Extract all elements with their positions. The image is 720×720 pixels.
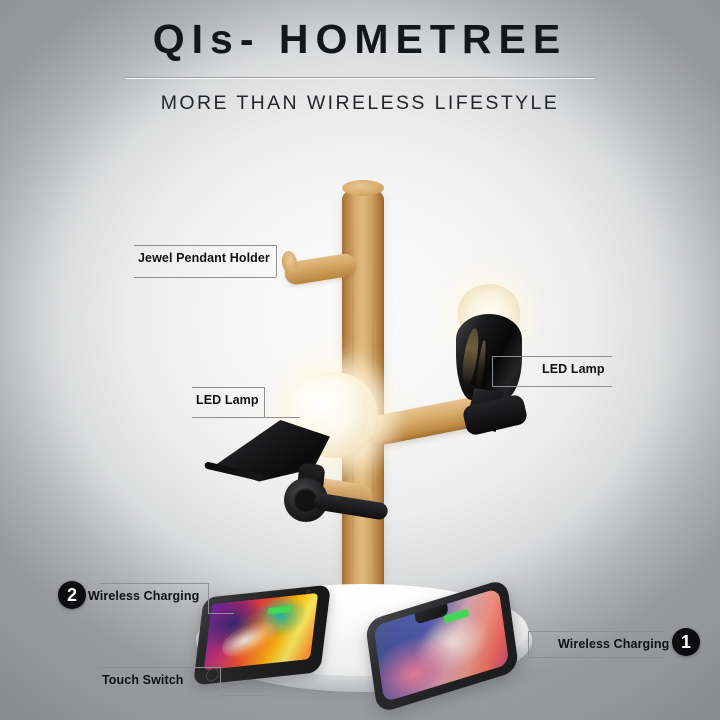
touch-leader-right bbox=[220, 667, 221, 695]
left-bird-lamp bbox=[206, 368, 386, 518]
led-left-leader-right bbox=[264, 387, 265, 417]
left-phone bbox=[193, 585, 331, 686]
led-lamp-left-label: LED Lamp bbox=[196, 393, 259, 407]
badge-1: 1 bbox=[672, 628, 700, 656]
jewel-leader-right bbox=[276, 245, 277, 277]
header: QIs- HOMETREE MORE THAN WIRELESS LIFESTY… bbox=[0, 0, 720, 115]
led-left-leader-bottom bbox=[192, 417, 264, 418]
led-right-leader-bottom bbox=[492, 386, 612, 387]
wireless-charging-1-label: Wireless Charging bbox=[558, 637, 669, 651]
left-phone-screen bbox=[204, 593, 319, 670]
wireless-charging-2-label: Wireless Charging bbox=[88, 589, 199, 603]
left-lamp-arm bbox=[313, 492, 389, 520]
infographic-canvas: QIs- HOMETREE MORE THAN WIRELESS LIFESTY… bbox=[0, 0, 720, 720]
title-divider bbox=[126, 77, 594, 78]
wc1-leader-top bbox=[528, 631, 666, 632]
touch-switch-label: Touch Switch bbox=[102, 673, 184, 687]
wc1-leader-bottom bbox=[528, 657, 666, 658]
led-right-leader-left bbox=[492, 356, 493, 386]
led-left-leader-point bbox=[264, 417, 300, 418]
badge-2: 2 bbox=[58, 581, 86, 609]
wc1-leader-left bbox=[528, 631, 529, 657]
trunk-top-cap bbox=[342, 180, 384, 196]
page-title: QIs- HOMETREE bbox=[0, 0, 720, 63]
touch-leader-point bbox=[220, 695, 266, 696]
led-lamp-right-label: LED Lamp bbox=[542, 362, 605, 376]
led-right-leader-top bbox=[492, 356, 612, 357]
wc2-leader-right bbox=[208, 583, 209, 613]
wc2-leader-point bbox=[208, 613, 234, 614]
left-phone-wallpaper-swirl bbox=[219, 613, 279, 664]
led-left-leader-top bbox=[192, 387, 264, 388]
wc2-leader-top bbox=[100, 583, 208, 584]
jewel-pendant-holder-label: Jewel Pendant Holder bbox=[138, 251, 270, 265]
left-phone-battery-indicator bbox=[267, 606, 291, 614]
jewel-leader-bottom bbox=[134, 277, 276, 278]
page-subtitle: MORE THAN WIRELESS LIFESTYLE bbox=[0, 92, 720, 115]
touch-leader-top bbox=[98, 667, 220, 668]
jewel-leader-top bbox=[134, 245, 276, 246]
right-bird-lamp bbox=[440, 284, 550, 434]
